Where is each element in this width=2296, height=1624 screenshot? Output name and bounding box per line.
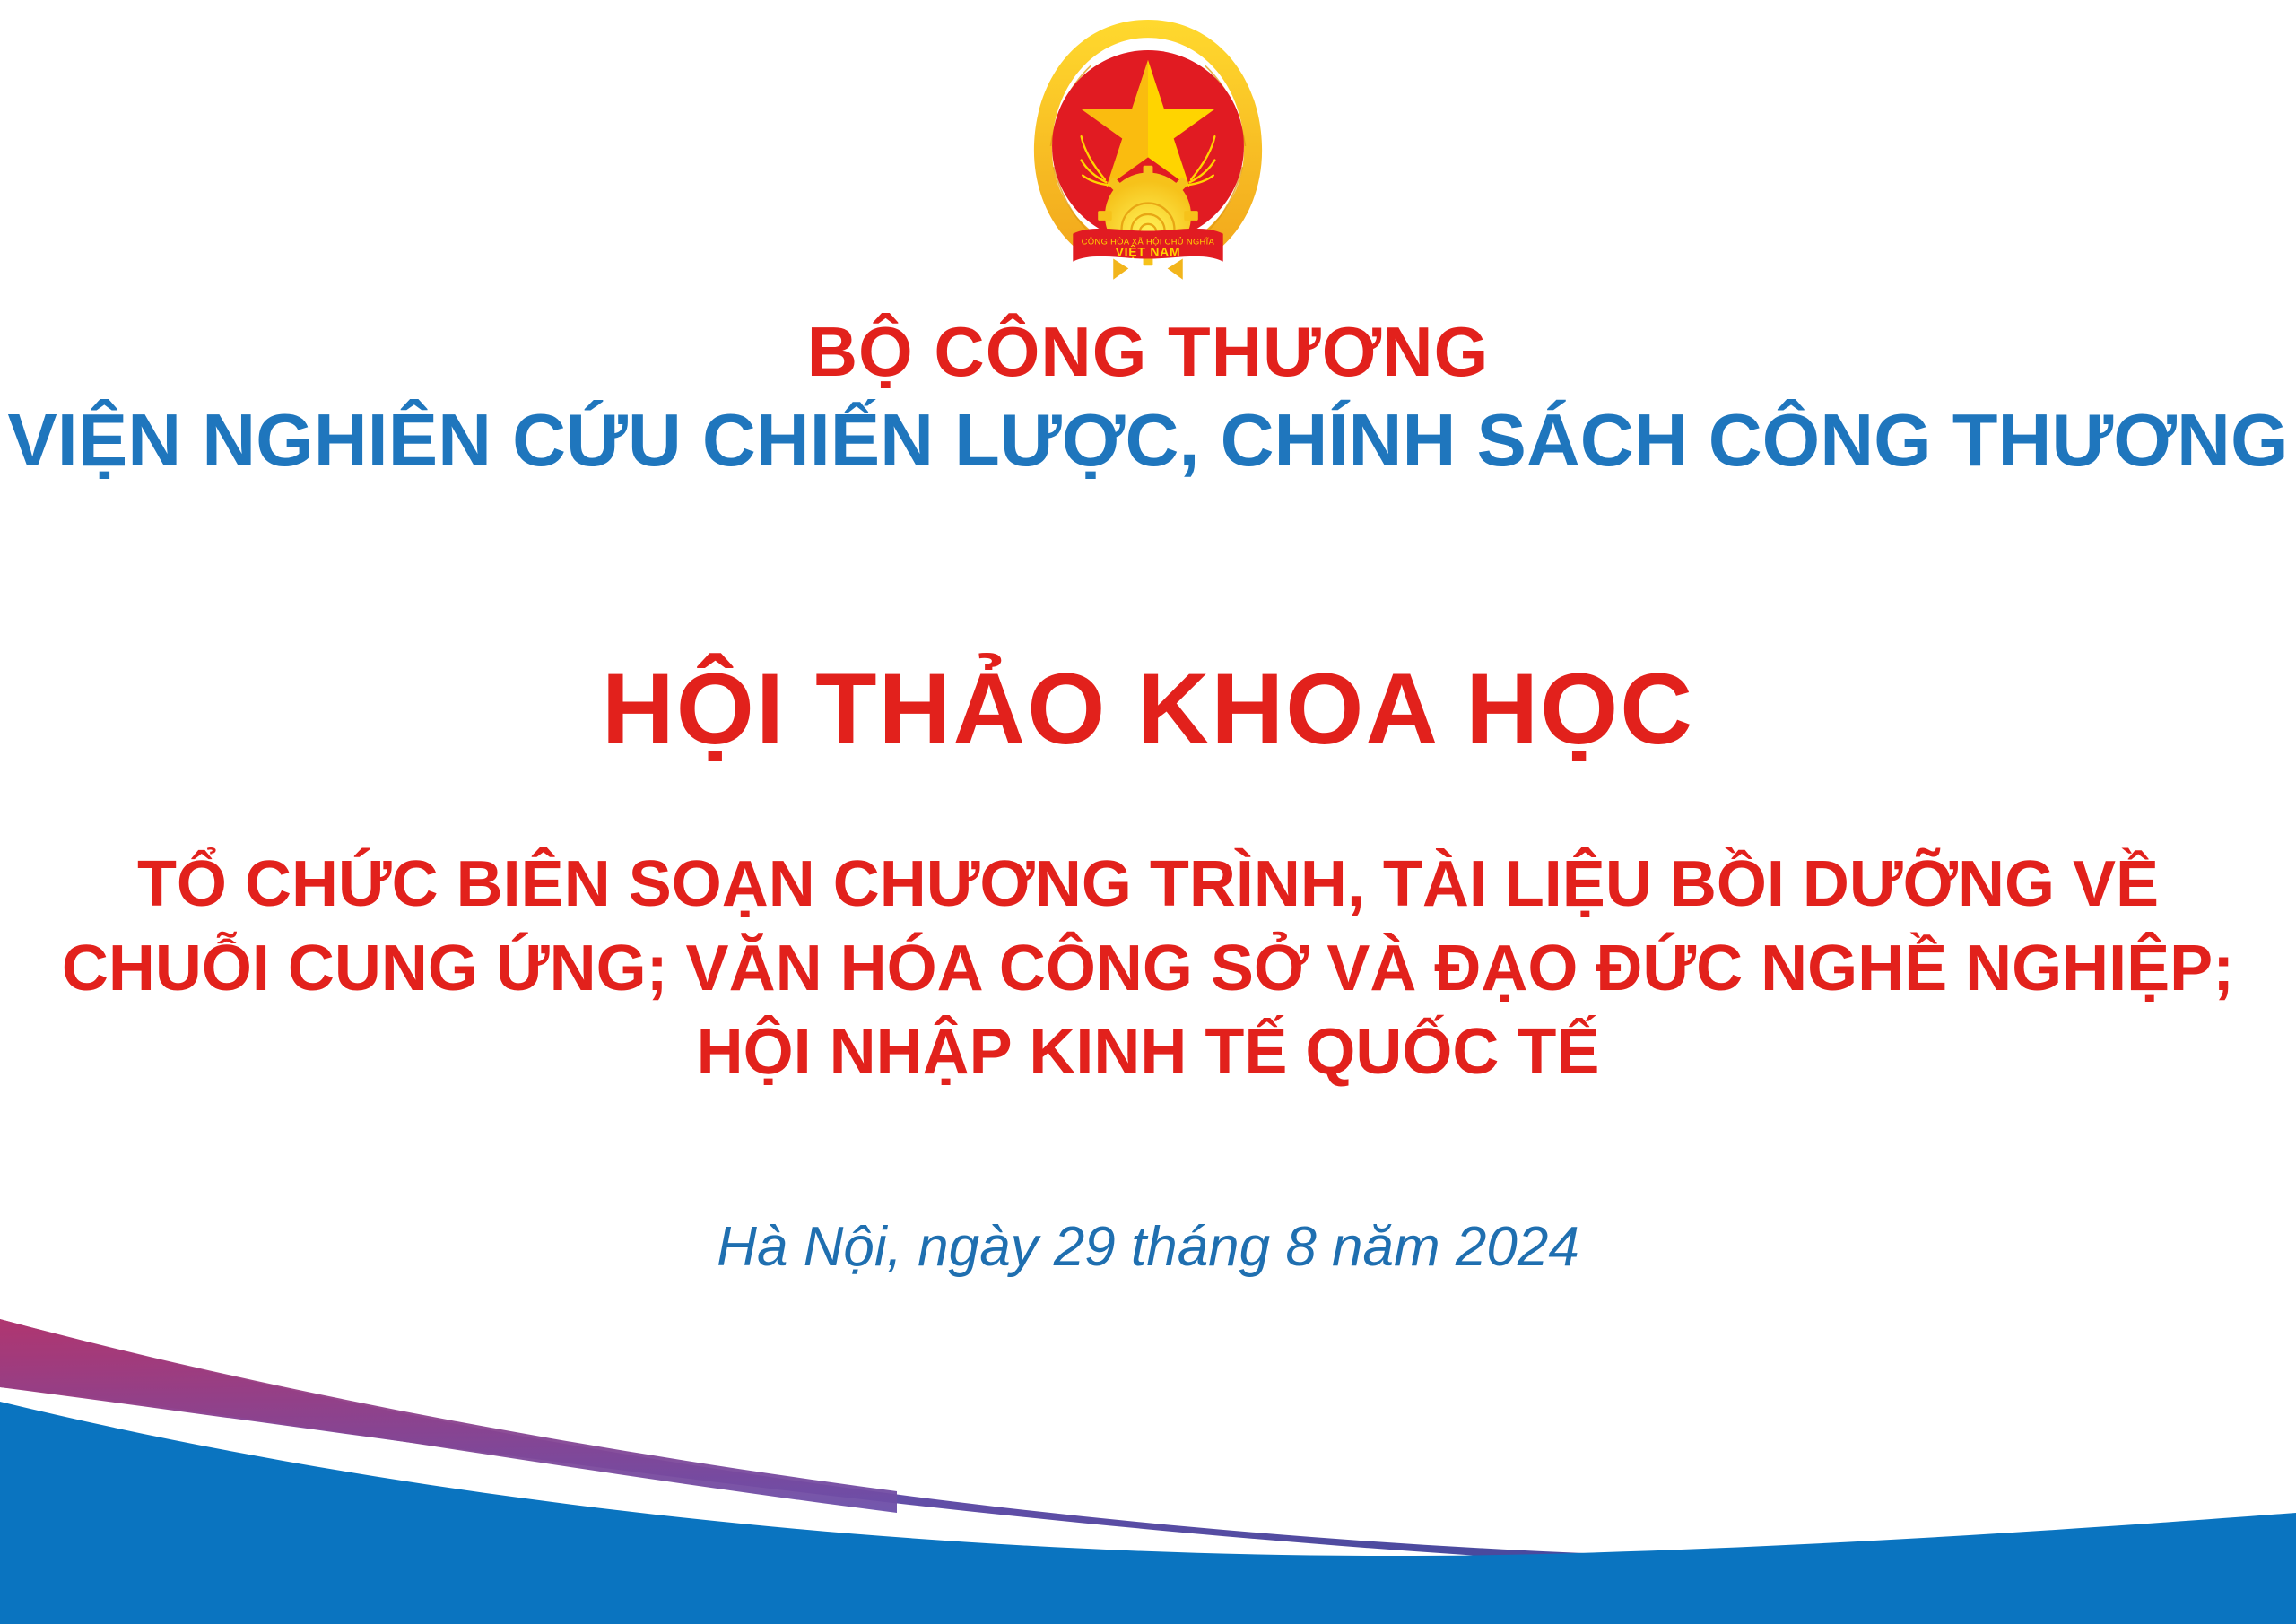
- bottom-wave-decoration: [0, 1301, 2296, 1624]
- subtitle-block: TỔ CHỨC BIÊN SOẠN CHƯƠNG TRÌNH, TÀI LIỆU…: [0, 843, 2296, 1095]
- page-title: HỘI THẢO KHOA HỌC: [0, 659, 2296, 760]
- institute-name: VIỆN NGHIÊN CỨU CHIẾN LƯỢC, CHÍNH SÁCH C…: [0, 401, 2296, 480]
- emblem-banner-bottom-text: VIỆT NAM: [1116, 243, 1181, 258]
- subtitle-line-1: TỔ CHỨC BIÊN SOẠN CHƯƠNG TRÌNH, TÀI LIỆU…: [0, 843, 2296, 927]
- organization-header: BỘ CÔNG THƯƠNG VIỆN NGHIÊN CỨU CHIẾN LƯỢ…: [0, 316, 2296, 480]
- vietnam-national-emblem-icon: CỘNG HÒA XÃ HỘI CHỦ NGHĨA VIỆT NAM: [1009, 7, 1287, 285]
- emblem-container: CỘNG HÒA XÃ HỘI CHỦ NGHĨA VIỆT NAM: [0, 7, 2296, 285]
- emblem-banner-tail-right: [1168, 259, 1183, 280]
- emblem-banner-tail-left: [1113, 259, 1128, 280]
- subtitle-line-3: HỘI NHẬP KINH TẾ QUỐC TẾ: [0, 1011, 2296, 1095]
- ministry-name: BỘ CÔNG THƯƠNG: [0, 316, 2296, 388]
- date-location-line: Hà Nội, ngày 29 tháng 8 năm 2024: [0, 1215, 2296, 1279]
- conference-poster: CỘNG HÒA XÃ HỘI CHỦ NGHĨA VIỆT NAM BỘ CÔ…: [0, 0, 2296, 1624]
- wave-blue-band: [0, 1402, 2296, 1624]
- subtitle-line-2: CHUỖI CUNG ỨNG; VĂN HÓA CÔNG SỞ VÀ ĐẠO Đ…: [0, 927, 2296, 1012]
